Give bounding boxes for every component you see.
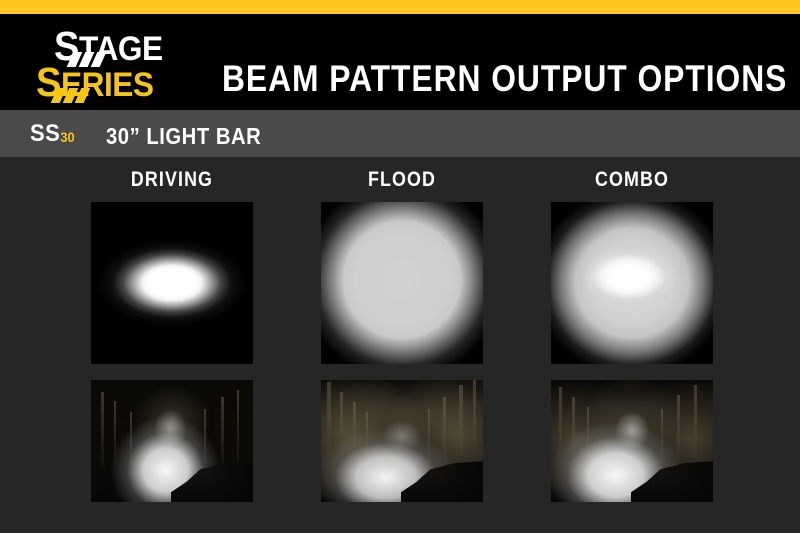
page-title: BEAM PATTERN OUTPUT OPTIONS bbox=[222, 58, 787, 100]
column-label-driving: DRIVING bbox=[74, 168, 270, 192]
badge-prefix: SS bbox=[30, 120, 60, 147]
beam-glow-flood bbox=[321, 202, 483, 364]
column-driving: DRIVING bbox=[57, 168, 287, 502]
top-accent-strip bbox=[0, 0, 800, 14]
beam-pattern-combo bbox=[551, 202, 713, 364]
beam-pattern-driving bbox=[91, 202, 253, 364]
logo-word-series: SERIES bbox=[36, 62, 154, 103]
stage-series-logo: STAGE SERIES bbox=[28, 24, 198, 102]
logo-word-stage: STAGE bbox=[54, 26, 163, 67]
road-photo-flood bbox=[321, 380, 483, 502]
column-combo: COMBO bbox=[517, 168, 747, 502]
header-bar: STAGE SERIES BEAM PATTERN OUTPUT OPTIONS bbox=[0, 14, 800, 110]
beam-glow-combo bbox=[551, 202, 713, 364]
road-photo-driving bbox=[91, 380, 253, 502]
badge-number: 30 bbox=[60, 129, 74, 145]
logo-series-rest: ERIES bbox=[61, 66, 154, 104]
product-subtitle-bar: SS30 30” LIGHT BAR bbox=[0, 110, 800, 157]
column-flood: FLOOD bbox=[287, 168, 517, 502]
logo-series-initial: S bbox=[36, 59, 61, 105]
beam-pattern-flood bbox=[321, 202, 483, 364]
column-label-combo: COMBO bbox=[534, 168, 730, 192]
column-label-flood: FLOOD bbox=[304, 168, 500, 192]
road-photo-combo bbox=[551, 380, 713, 502]
beam-glow-driving bbox=[91, 202, 253, 364]
beam-pattern-infographic: STAGE SERIES BEAM PATTERN OUTPUT OPTIONS… bbox=[0, 0, 800, 533]
product-name: 30” LIGHT BAR bbox=[106, 123, 261, 150]
ss30-badge: SS30 bbox=[30, 122, 75, 146]
